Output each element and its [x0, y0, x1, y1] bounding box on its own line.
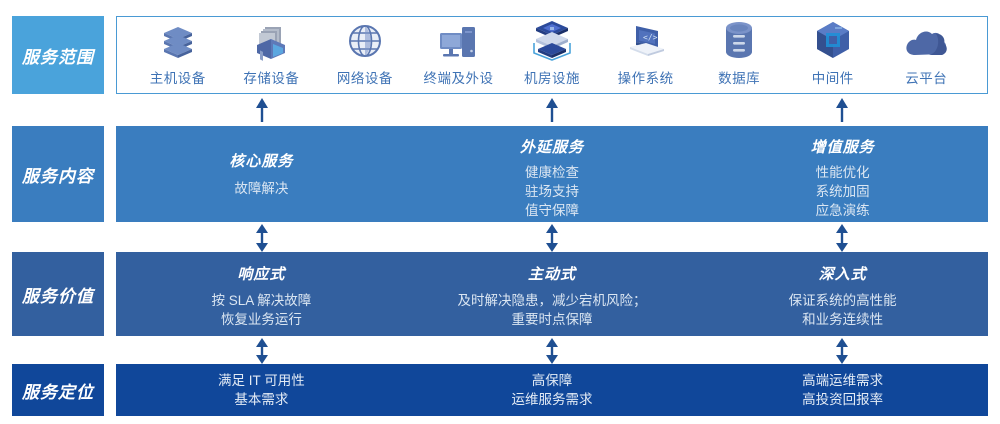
scope-item-label: 存储设备 — [243, 67, 299, 87]
desktop-pc-icon — [436, 17, 480, 61]
scope-item-label: 终端及外设 — [423, 67, 493, 87]
row-label-value: 服务价值 — [12, 252, 104, 336]
value-line: 恢复业务运行 — [211, 310, 311, 329]
scope-item-facility[interactable]: 机房设施 — [505, 17, 599, 87]
content-column-title: 外延服务 — [520, 136, 584, 157]
connector-value-to-position-col3 — [834, 338, 850, 364]
database-cylinder-icon — [719, 17, 759, 61]
scope-item-cloud[interactable]: 云平台 — [880, 17, 974, 87]
position-line: 高保障 — [512, 371, 593, 390]
value-column-title: 响应式 — [237, 263, 285, 284]
value-column-responsive[interactable]: 响应式 按 SLA 解决故障 恢复业务运行 — [116, 252, 407, 336]
connector-scope-to-content-col2 — [544, 98, 560, 122]
row-label-value-text: 服务价值 — [22, 282, 94, 307]
value-column-lines: 按 SLA 解决故障 恢复业务运行 — [211, 291, 311, 329]
position-line: 运维服务需求 — [512, 390, 593, 409]
content-column-title: 增值服务 — [811, 136, 875, 157]
scope-item-label: 操作系统 — [618, 67, 674, 87]
server-stack-icon — [158, 17, 198, 61]
globe-network-icon — [345, 17, 385, 61]
scope-item-label: 数据库 — [718, 67, 760, 87]
service-framework-diagram: 服务范围 — [0, 0, 1000, 424]
value-line: 重要时点保障 — [458, 310, 647, 329]
cube-middleware-icon — [812, 17, 854, 61]
scope-item-host[interactable]: 主机设备 — [131, 17, 225, 87]
scope-panel: 主机设备 存储设备 — [116, 16, 988, 94]
row-label-content-text: 服务内容 — [22, 162, 94, 187]
value-column-indepth[interactable]: 深入式 保证系统的高性能 和业务连续性 — [697, 252, 988, 336]
connector-content-to-value-col2 — [544, 224, 560, 252]
position-column-lines: 高保障 运维服务需求 — [512, 371, 593, 409]
content-line: 驻场支持 — [525, 182, 579, 201]
value-column-lines: 及时解决隐患，减少宕机风险； 重要时点保障 — [458, 291, 647, 329]
position-column-highend[interactable]: 高端运维需求 高投资回报率 — [697, 364, 988, 416]
content-column-extended[interactable]: 外延服务 健康检查 驻场支持 值守保障 — [407, 126, 698, 222]
row-label-position-text: 服务定位 — [22, 378, 94, 403]
value-column-proactive[interactable]: 主动式 及时解决隐患，减少宕机风险； 重要时点保障 — [407, 252, 698, 336]
value-column-lines: 保证系统的高性能 和业务连续性 — [789, 291, 897, 329]
content-column-lines: 健康检查 驻场支持 值守保障 — [525, 163, 579, 220]
content-column-valueadd[interactable]: 增值服务 性能优化 系统加固 应急演练 — [697, 126, 988, 222]
position-column-lines: 满足 IT 可用性 基本需求 — [218, 371, 305, 409]
value-line: 按 SLA 解决故障 — [211, 291, 311, 310]
position-column-basic[interactable]: 满足 IT 可用性 基本需求 — [116, 364, 407, 416]
content-column-title: 核心服务 — [229, 150, 293, 171]
content-column-lines: 故障解决 — [234, 179, 288, 198]
value-line: 和业务连续性 — [789, 310, 897, 329]
value-line: 保证系统的高性能 — [789, 291, 897, 310]
content-column-core[interactable]: 核心服务 故障解决 — [116, 126, 407, 222]
content-line: 健康检查 — [525, 163, 579, 182]
value-column-title: 主动式 — [528, 263, 576, 284]
storage-array-icon — [251, 17, 291, 61]
row-label-scope: 服务范围 — [12, 16, 104, 94]
scope-item-label: 机房设施 — [524, 67, 580, 87]
row-label-scope-text: 服务范围 — [22, 43, 94, 68]
content-line: 系统加固 — [816, 182, 870, 201]
content-line: 性能优化 — [816, 163, 870, 182]
value-column-title: 深入式 — [819, 263, 867, 284]
value-line: 及时解决隐患，减少宕机风险； — [458, 291, 647, 310]
connector-value-to-position-col1 — [254, 338, 270, 364]
scope-item-storage[interactable]: 存储设备 — [225, 17, 319, 87]
content-line: 值守保障 — [525, 201, 579, 220]
row-label-position: 服务定位 — [12, 364, 104, 416]
row-label-content: 服务内容 — [12, 126, 104, 222]
connector-scope-to-content-col1 — [254, 98, 270, 122]
position-line: 满足 IT 可用性 — [218, 371, 305, 390]
position-column-assurance[interactable]: 高保障 运维服务需求 — [407, 364, 698, 416]
connector-scope-to-content-col3 — [834, 98, 850, 122]
svg-text:</>: </> — [643, 33, 658, 42]
laptop-code-icon: </> — [624, 17, 668, 61]
scope-item-network[interactable]: 网络设备 — [318, 17, 412, 87]
data-center-facility-icon — [530, 17, 574, 61]
scope-item-label: 主机设备 — [150, 67, 206, 87]
scope-item-label: 网络设备 — [337, 67, 393, 87]
content-column-lines: 性能优化 系统加固 应急演练 — [816, 163, 870, 220]
scope-item-terminal[interactable]: 终端及外设 — [412, 17, 506, 87]
position-column-lines: 高端运维需求 高投资回报率 — [802, 371, 883, 409]
value-panel: 响应式 按 SLA 解决故障 恢复业务运行 主动式 及时解决隐患，减少宕机风险；… — [116, 252, 988, 336]
scope-item-middleware[interactable]: 中间件 — [786, 17, 880, 87]
scope-item-os[interactable]: </> 操作系统 — [599, 17, 693, 87]
position-line: 高端运维需求 — [802, 371, 883, 390]
connector-content-to-value-col1 — [254, 224, 270, 252]
cloud-icon — [903, 17, 949, 61]
connector-value-to-position-col2 — [544, 338, 560, 364]
scope-item-label: 中间件 — [812, 67, 854, 87]
content-line: 应急演练 — [816, 201, 870, 220]
scope-item-database[interactable]: 数据库 — [692, 17, 786, 87]
content-line: 故障解决 — [234, 179, 288, 198]
position-line: 高投资回报率 — [802, 390, 883, 409]
connector-content-to-value-col3 — [834, 224, 850, 252]
position-line: 基本需求 — [218, 390, 305, 409]
scope-item-label: 云平台 — [905, 67, 947, 87]
position-panel: 满足 IT 可用性 基本需求 高保障 运维服务需求 高端运维需求 高投资回报率 — [116, 364, 988, 416]
content-panel: 核心服务 故障解决 外延服务 健康检查 驻场支持 值守保障 增值服务 性能优化 … — [116, 126, 988, 222]
